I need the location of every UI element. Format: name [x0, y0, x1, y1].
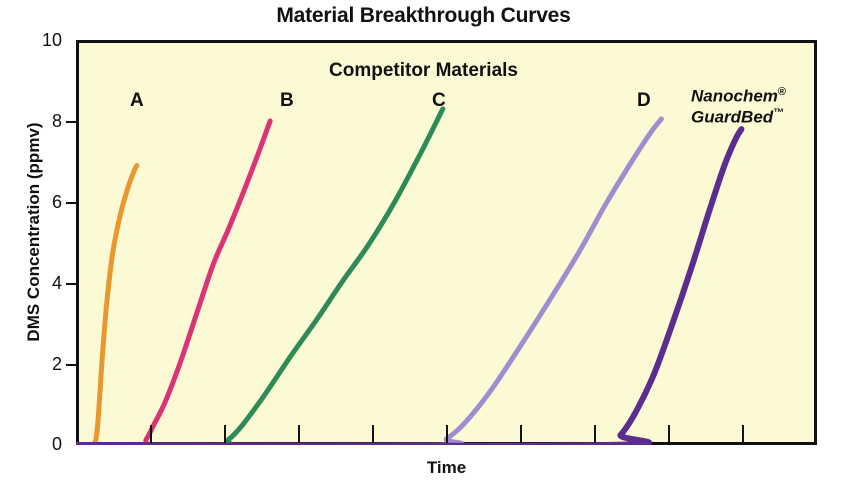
y-axis-label: DMS Concentration (ppmv) — [24, 72, 44, 392]
x-tick-mark-5 — [446, 425, 448, 443]
series-label-b: B — [280, 90, 294, 112]
series-curve-d — [76, 119, 661, 445]
y-tick-label-0: 0 — [18, 434, 62, 455]
brand-name-guardbed: GuardBed — [691, 107, 773, 126]
registered-mark-icon: ® — [778, 86, 786, 98]
series-label-a: A — [130, 90, 144, 112]
series-label-c: C — [432, 90, 446, 112]
brand-line-guardbed: GuardBed™ — [691, 107, 786, 128]
x-tick-mark-7 — [594, 425, 596, 443]
brand-name-nanochem: Nanochem — [691, 87, 778, 106]
x-tick-mark-2 — [224, 425, 226, 443]
brand-line-nanochem: Nanochem® — [691, 86, 786, 107]
series-curve-c — [76, 109, 443, 445]
x-tick-mark-3 — [298, 425, 300, 443]
x-tick-mark-4 — [372, 425, 374, 443]
series-curve-b — [76, 121, 270, 445]
x-tick-mark-1 — [150, 425, 152, 443]
y-tick-label-10: 10 — [18, 30, 62, 51]
trademark-mark-icon: ™ — [773, 107, 784, 119]
page-title: Material Breakthrough Curves — [0, 4, 847, 28]
chart-container: Material Breakthrough Curves 10 8 6 4 2 … — [0, 0, 847, 490]
series-curve-a — [76, 166, 137, 445]
series-label-nanochem-guardbed: Nanochem® GuardBed™ — [691, 86, 786, 127]
x-tick-mark-9 — [742, 425, 744, 443]
x-tick-mark-6 — [520, 425, 522, 443]
series-label-d: D — [637, 90, 651, 112]
competitor-materials-label: Competitor Materials — [0, 60, 847, 82]
x-axis-label: Time — [76, 458, 817, 478]
x-tick-mark-8 — [668, 425, 670, 443]
